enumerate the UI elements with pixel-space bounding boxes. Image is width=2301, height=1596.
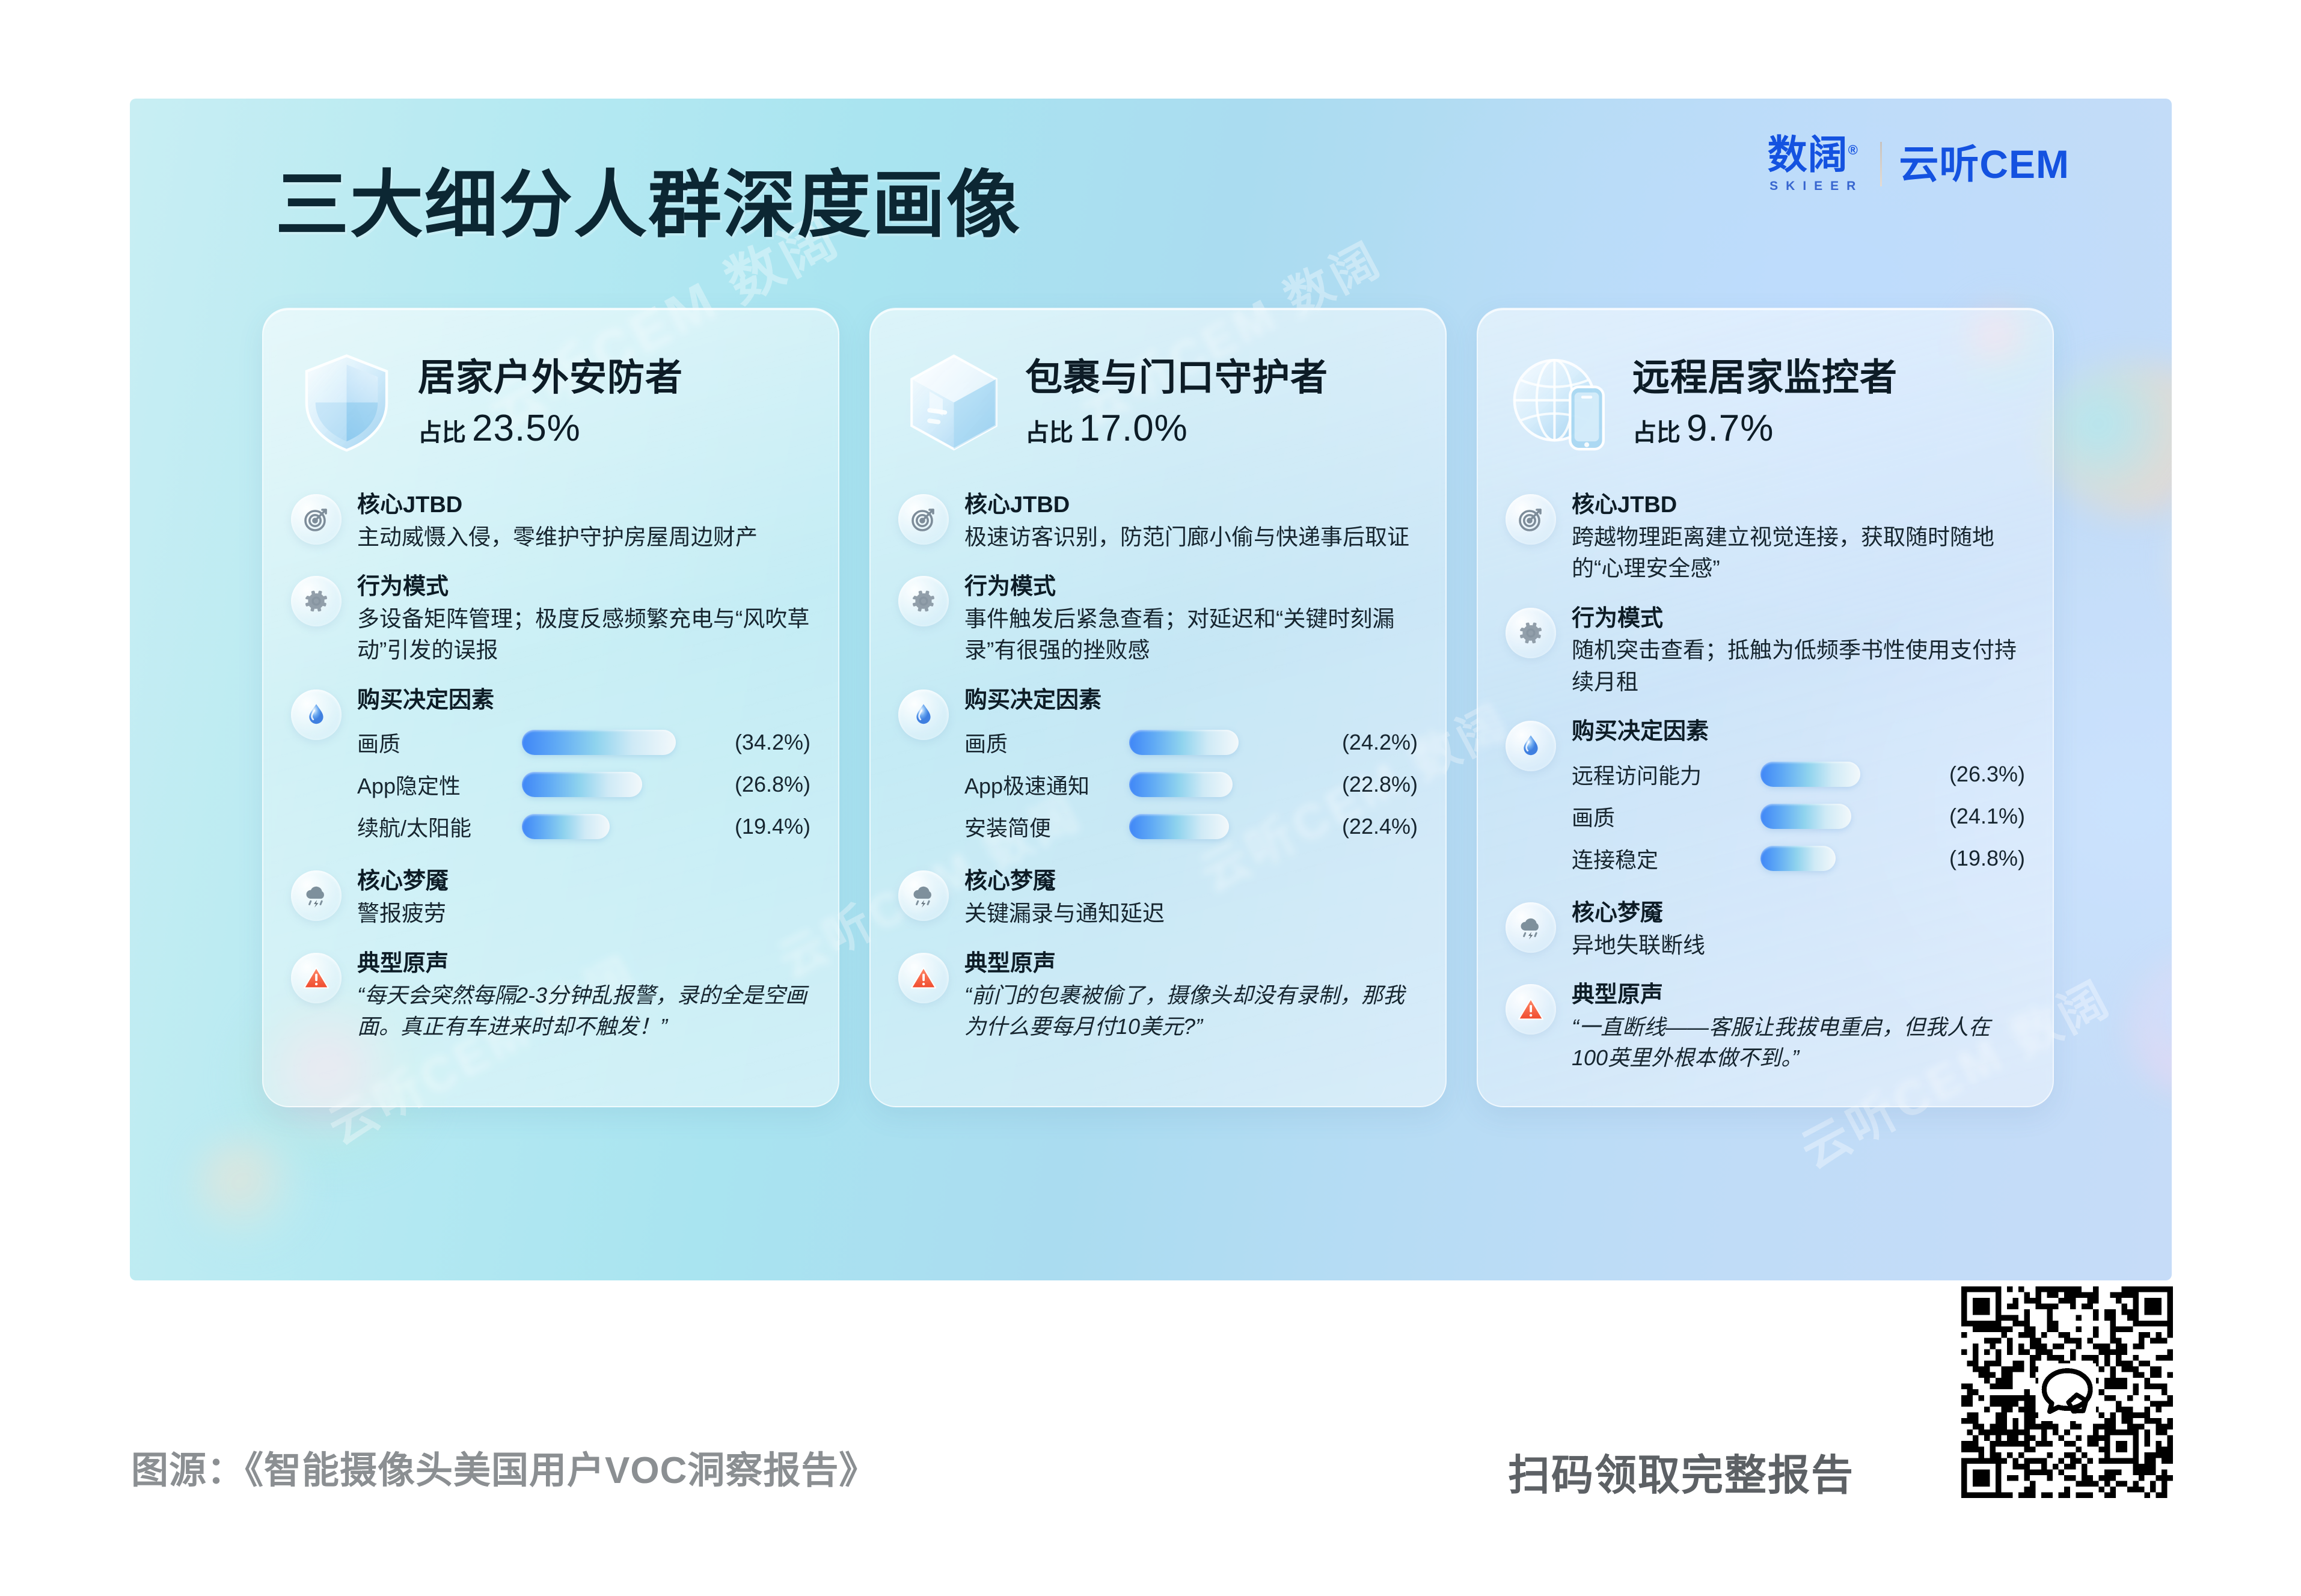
section-title-quote: 典型原声 — [964, 950, 1418, 978]
section-nightmare: 核心梦魇 警报疲劳 — [291, 868, 810, 929]
alert-triangle-icon — [1506, 984, 1556, 1035]
section-text-jtbd: 跨越物理距离建立视觉连接，获取随时随地的“心理安全感” — [1572, 522, 2025, 585]
factor-bar-cell — [513, 814, 684, 839]
brand-name-en: SKIEER — [1769, 179, 1863, 194]
factor-label: 画质 — [1572, 801, 1752, 832]
decor-bubble — [190, 1133, 310, 1247]
factor-bar-cell — [1752, 804, 1899, 829]
section-text-nightmare: 异地失联断线 — [1572, 930, 2025, 962]
factor-label: 续航/太阳能 — [357, 811, 513, 842]
factor-bar — [522, 772, 642, 797]
factor-label: 远程访问能力 — [1572, 759, 1752, 790]
factor-value: (19.8%) — [1899, 846, 2025, 871]
section-text-nightmare: 关键漏录与通知延迟 — [964, 898, 1418, 930]
factor-value: (34.2%) — [684, 730, 810, 755]
decor-bubble — [2132, 958, 2172, 1096]
factor-row: 续航/太阳能 (19.4%) — [357, 806, 810, 848]
target-icon — [1506, 494, 1556, 545]
card-header: 远程居家监控者 占比 9.7% — [1506, 333, 2025, 471]
factor-label: 画质 — [964, 727, 1121, 758]
section-jtbd: 核心JTBD 极速访客识别，防范门廊小偷与快递事后取证 — [898, 492, 1418, 553]
storm-icon — [1506, 902, 1556, 953]
factor-list: 画质 (34.2%) App隐定性 (26.8%) 续航/太阳能 (19.4%) — [357, 721, 810, 848]
section-behavior: 行为模式 多设备矩阵管理；极度反感频繁充电与“风吹草动”引发的误报 — [291, 573, 810, 667]
section-text-jtbd: 极速访客识别，防范门廊小偷与快递事后取证 — [964, 522, 1418, 554]
factor-bar-cell — [1121, 814, 1291, 839]
storm-icon — [898, 870, 949, 921]
section-behavior: 行为模式 事件触发后紧急查看；对延迟和“关键时刻漏录”有很强的挫败感 — [898, 573, 1418, 667]
gear-icon — [898, 576, 949, 626]
section-jtbd: 核心JTBD 主动威慑入侵，零维护守护房屋周边财产 — [291, 492, 810, 553]
share-value: 23.5% — [472, 407, 581, 450]
infographic-root: 云听CEM 数阔 云听CEM 数阔 云听CEM 数阔 云听CEM 数阔 云听CE… — [0, 0, 2301, 1596]
section-text-behavior: 多设备矩阵管理；极度反感频繁充电与“风吹草动”引发的误报 — [357, 604, 810, 667]
section-factors: 购买决定因素 画质 (24.2%) App极速通知 (22.8%) 安装简便 (… — [898, 687, 1418, 848]
droplet-icon — [291, 689, 342, 740]
section-quote: 典型原声 “每天会突然每隔2-3分钟乱报警，录的全是空画面。真正有车进来时却不触… — [291, 950, 810, 1042]
persona-card: 包裹与门口守护者 占比 17.0% 核心JTBD 极速访客识别，防范门廊小偷与快… — [869, 308, 1447, 1107]
share-value: 9.7% — [1687, 407, 1774, 450]
target-icon — [898, 494, 949, 545]
factor-label: 连接稳定 — [1572, 843, 1752, 874]
section-title-nightmare: 核心梦魇 — [357, 868, 810, 896]
factor-list: 画质 (24.2%) App极速通知 (22.8%) 安装简便 (22.4%) — [964, 721, 1418, 848]
section-title-nightmare: 核心梦魇 — [1572, 900, 2025, 928]
section-text-behavior: 随机突击查看；抵触为低频季书性使用支付持续月租 — [1572, 635, 2025, 698]
section-title-factors: 购买决定因素 — [357, 687, 810, 715]
section-text-quote: “前门的包裹被偷了，摄像头却没有录制，那我为什么要每月付10美元?” — [964, 980, 1418, 1042]
section-behavior: 行为模式 随机突击查看；抵触为低频季书性使用支付持续月租 — [1506, 605, 2025, 699]
cta-label: 扫码领取完整报告 — [1508, 1442, 1854, 1502]
decor-bubble — [2042, 363, 2172, 513]
factor-bar-cell — [1752, 846, 1899, 871]
section-text-behavior: 事件触发后紧急查看；对延迟和“关键时刻漏录”有很强的挫败感 — [964, 604, 1418, 667]
persona-card: 居家户外安防者 占比 23.5% 核心JTBD 主动威慑入侵，零维护守护房屋周边… — [262, 308, 839, 1107]
section-title-behavior: 行为模式 — [964, 573, 1418, 601]
qr-code[interactable] — [1961, 1286, 2173, 1498]
factor-value: (24.2%) — [1291, 730, 1418, 755]
factor-row: 画质 (34.2%) — [357, 721, 810, 763]
factor-bar-cell — [1121, 772, 1291, 797]
droplet-icon — [1506, 721, 1556, 771]
factor-bar — [1129, 730, 1239, 755]
globe-phone-icon — [1506, 347, 1617, 458]
section-title-behavior: 行为模式 — [357, 573, 810, 601]
section-text-nightmare: 警报疲劳 — [357, 898, 810, 930]
factor-label: 安装简便 — [964, 811, 1121, 842]
gear-icon — [291, 576, 342, 626]
card-header: 包裹与门口守护者 占比 17.0% — [898, 333, 1418, 471]
section-title-factors: 购买决定因素 — [1572, 718, 2025, 746]
alert-triangle-icon — [291, 953, 342, 1003]
factor-bar — [522, 730, 676, 755]
section-jtbd: 核心JTBD 跨越物理距离建立视觉连接，获取随时随地的“心理安全感” — [1506, 492, 2025, 585]
factor-bar-cell — [1752, 762, 1899, 787]
factor-bar — [522, 814, 610, 839]
factor-row: 画质 (24.2%) — [964, 721, 1418, 763]
factor-row: App极速通知 (22.8%) — [964, 763, 1418, 806]
card-title: 包裹与门口守护者 — [1025, 358, 1328, 398]
factor-label: App隐定性 — [357, 769, 513, 800]
factor-bar — [1760, 846, 1836, 871]
share-value: 17.0% — [1079, 407, 1188, 450]
main-panel: 云听CEM 数阔 云听CEM 数阔 云听CEM 数阔 云听CEM 数阔 云听CE… — [130, 99, 2172, 1280]
persona-card-list: 居家户外安防者 占比 23.5% 核心JTBD 主动威慑入侵，零维护守护房屋周边… — [262, 308, 2054, 1107]
share-prefix-label: 占比 — [418, 413, 466, 448]
section-quote: 典型原声 “一直断线——客服让我拔电重启，但我人在100英里外根本做不到。” — [1506, 982, 2025, 1074]
section-text-quote: “一直断线——客服让我拔电重启，但我人在100英里外根本做不到。” — [1572, 1012, 2025, 1074]
section-title-jtbd: 核心JTBD — [1572, 492, 2025, 519]
factor-value: (26.3%) — [1899, 762, 2025, 787]
section-title-quote: 典型原声 — [357, 950, 810, 978]
factor-bar — [1129, 814, 1229, 839]
factor-row: 安装简便 (22.4%) — [964, 806, 1418, 848]
factor-value: (26.8%) — [684, 772, 810, 797]
gear-icon — [1506, 608, 1556, 658]
card-title: 居家户外安防者 — [418, 358, 683, 398]
factor-value: (22.4%) — [1291, 814, 1418, 839]
target-icon — [291, 494, 342, 545]
factor-value: (22.8%) — [1291, 772, 1418, 797]
factor-bar-cell — [1121, 730, 1291, 755]
section-nightmare: 核心梦魇 关键漏录与通知延迟 — [898, 868, 1418, 929]
factor-row: 连接稳定 (19.8%) — [1572, 837, 2025, 879]
source-caption: 图源：《智能摄像头美国用户VOC洞察报告》 — [131, 1440, 877, 1494]
droplet-icon — [898, 689, 949, 740]
section-title-factors: 购买决定因素 — [964, 687, 1418, 715]
section-text-quote: “每天会突然每隔2-3分钟乱报警，录的全是空画面。真正有车进来时却不触发！” — [357, 980, 810, 1042]
section-factors: 购买决定因素 远程访问能力 (26.3%) 画质 (24.1%) 连接稳定 (1… — [1506, 718, 2025, 879]
factor-value: (19.4%) — [684, 814, 810, 839]
storm-icon — [291, 870, 342, 921]
shield-icon — [291, 347, 402, 458]
factor-bar-cell — [513, 730, 684, 755]
brand-product-name: 云听CEM — [1899, 144, 2070, 184]
alert-triangle-icon — [898, 953, 949, 1003]
factor-label: 画质 — [357, 727, 513, 758]
section-nightmare: 核心梦魇 异地失联断线 — [1506, 900, 2025, 961]
factor-row: 远程访问能力 (26.3%) — [1572, 753, 2025, 795]
factor-list: 远程访问能力 (26.3%) 画质 (24.1%) 连接稳定 (19.8%) — [1572, 753, 2025, 879]
factor-label: App极速通知 — [964, 769, 1121, 800]
share-prefix-label: 占比 — [1632, 413, 1681, 448]
section-title-quote: 典型原声 — [1572, 982, 2025, 1009]
registered-mark-icon: ® — [1848, 142, 1858, 157]
brand-divider — [1880, 142, 1882, 186]
section-title-nightmare: 核心梦魇 — [964, 868, 1418, 896]
persona-card: 远程居家监控者 占比 9.7% 核心JTBD 跨越物理距离建立视觉连接，获取随时… — [1477, 308, 2054, 1107]
brand-name-cn-text: 数阔 — [1768, 132, 1848, 177]
package-icon — [898, 347, 1010, 458]
section-title-jtbd: 核心JTBD — [964, 492, 1418, 519]
factor-bar — [1129, 772, 1233, 797]
brand-name-cn: 数阔® — [1768, 135, 1858, 174]
section-text-jtbd: 主动威慑入侵，零维护守护房屋周边财产 — [357, 522, 810, 554]
card-header: 居家户外安防者 占比 23.5% — [291, 333, 810, 471]
section-factors: 购买决定因素 画质 (34.2%) App隐定性 (26.8%) 续航/太阳能 … — [291, 687, 810, 848]
factor-bar — [1760, 804, 1851, 829]
factor-row: 画质 (24.1%) — [1572, 795, 2025, 837]
factor-value: (24.1%) — [1899, 804, 2025, 829]
card-share: 占比 9.7% — [1632, 407, 1898, 450]
factor-bar-cell — [513, 772, 684, 797]
card-title: 远程居家监控者 — [1632, 358, 1898, 398]
section-quote: 典型原声 “前门的包裹被偷了，摄像头却没有录制，那我为什么要每月付10美元?” — [898, 950, 1418, 1042]
section-title-jtbd: 核心JTBD — [357, 492, 810, 519]
section-title-behavior: 行为模式 — [1572, 605, 2025, 633]
factor-row: App隐定性 (26.8%) — [357, 763, 810, 806]
page-title: 三大细分人群深度画像 — [275, 168, 1021, 242]
share-prefix-label: 占比 — [1025, 413, 1073, 448]
brand-lockup: 数阔® SKIEER 云听CEM — [1762, 135, 2070, 194]
factor-bar — [1760, 762, 1860, 787]
card-share: 占比 17.0% — [1025, 407, 1328, 450]
card-share: 占比 23.5% — [418, 407, 683, 450]
